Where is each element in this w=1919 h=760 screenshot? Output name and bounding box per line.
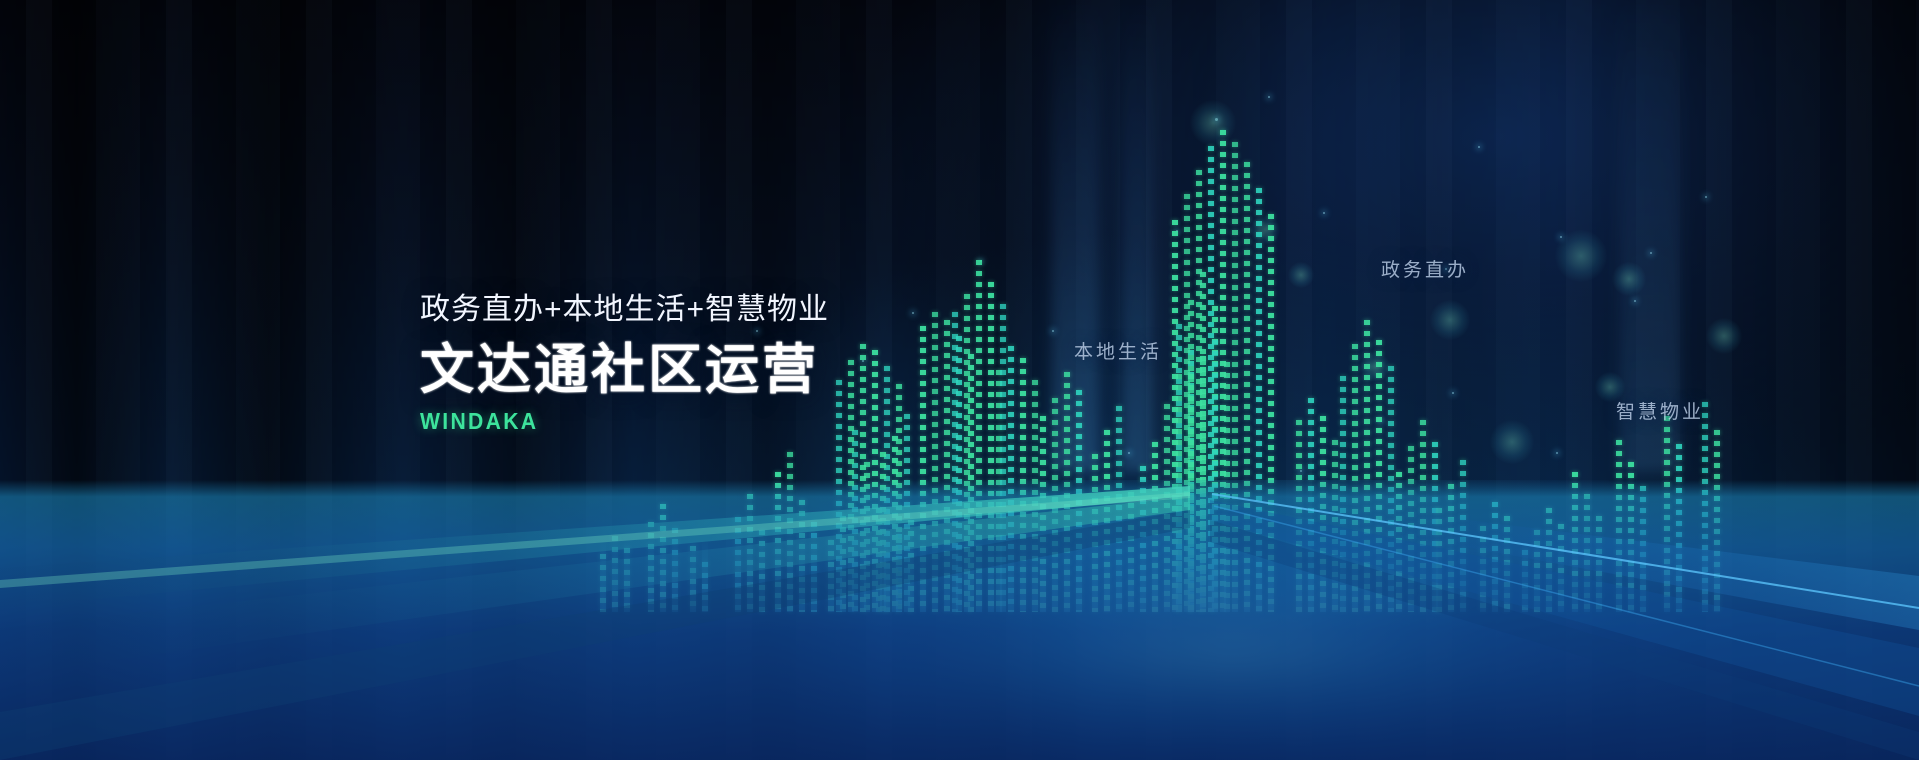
floor-perspective-lines: [0, 480, 1919, 760]
banner-hero: 本地生活政务直办智慧物业 政务直办+本地生活+智慧物业 文达通社区运营 WIND…: [0, 0, 1919, 760]
pillar-label-1: 本地生活: [1074, 337, 1162, 364]
hero-subtitle: 政务直办+本地生活+智慧物业: [420, 292, 829, 328]
brand-wordmark: WINDAKA: [420, 410, 796, 433]
hero-copy-block: 政务直办+本地生活+智慧物业 文达通社区运营 WINDAKA: [420, 292, 829, 433]
pillar-label-2: 政务直办: [1381, 255, 1469, 282]
pillar-label-3: 智慧物业: [1616, 397, 1704, 424]
hero-title: 文达通社区运营: [420, 340, 829, 400]
perspective-floor: [0, 480, 1919, 760]
